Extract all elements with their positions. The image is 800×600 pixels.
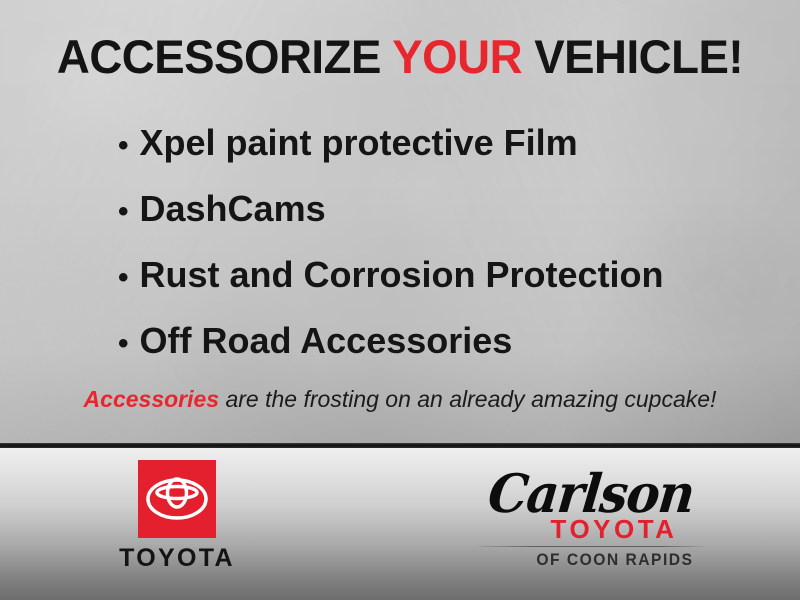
- toyota-emblem-badge: [138, 460, 216, 538]
- bullet-icon: •: [118, 179, 129, 245]
- toyota-wordmark: TOYOTA: [112, 546, 242, 571]
- list-item: • DashCams: [118, 176, 778, 242]
- carlson-toyota-logo[interactable]: Carlson TOYOTA OF COON RAPIDS: [466, 470, 716, 568]
- bullet-icon: •: [118, 113, 129, 179]
- tagline-emphasis: Accessories: [84, 386, 220, 412]
- section-divider: [0, 443, 800, 448]
- list-item: • Xpel paint protective Film: [118, 110, 778, 176]
- page-title: ACCESSORIZE YOUR VEHICLE!: [12, 33, 788, 80]
- list-item-label: Xpel paint protective Film: [140, 110, 578, 176]
- tagline-rest: are the frosting on an already amazing c…: [219, 386, 716, 412]
- list-item: • Rust and Corrosion Protection: [118, 242, 778, 308]
- headline-part-one: ACCESSORIZE: [57, 30, 392, 83]
- bullet-icon: •: [118, 311, 129, 377]
- feature-list: • Xpel paint protective Film • DashCams …: [118, 110, 778, 374]
- toyota-emblem-icon: [146, 477, 208, 521]
- panel-content: ACCESSORIZE YOUR VEHICLE! • Xpel paint p…: [0, 0, 800, 447]
- toyota-logo[interactable]: TOYOTA: [112, 460, 242, 571]
- main-panel: ACCESSORIZE YOUR VEHICLE! • Xpel paint p…: [0, 0, 800, 447]
- headline-part-two: VEHICLE!: [522, 30, 743, 83]
- carlson-city-label: OF COON RAPIDS: [476, 551, 706, 568]
- carlson-script-wordmark: Carlson: [463, 469, 718, 520]
- tagline: Accessories are the frosting on an alrea…: [0, 386, 800, 413]
- headline-highlight: YOUR: [392, 30, 522, 83]
- footer-bar: TOYOTA Carlson TOYOTA OF COON RAPIDS: [0, 448, 800, 600]
- list-item-label: Rust and Corrosion Protection: [140, 242, 664, 308]
- carlson-divider-rule: [479, 546, 704, 547]
- list-item: • Off Road Accessories: [118, 308, 778, 374]
- advertisement-banner: ACCESSORIZE YOUR VEHICLE! • Xpel paint p…: [0, 0, 800, 600]
- list-item-label: DashCams: [140, 176, 326, 242]
- list-item-label: Off Road Accessories: [140, 308, 513, 374]
- bullet-icon: •: [118, 245, 129, 311]
